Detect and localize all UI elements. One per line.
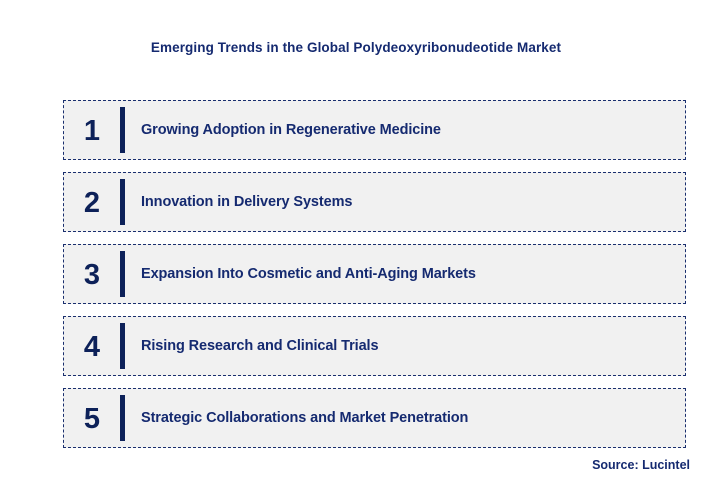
trend-rank-number: 4 [64, 331, 120, 362]
source-attribution: Source: Lucintel [592, 458, 690, 472]
trend-label: Strategic Collaborations and Market Pene… [141, 410, 685, 426]
trend-rank-number: 1 [64, 115, 120, 146]
page-title: Emerging Trends in the Global Polydeoxyr… [0, 40, 712, 55]
vertical-divider-bar [120, 395, 125, 441]
trends-infographic: Emerging Trends in the Global Polydeoxyr… [0, 0, 712, 501]
vertical-divider-bar [120, 107, 125, 153]
trend-list: 1 Growing Adoption in Regenerative Medic… [63, 100, 686, 448]
list-item[interactable]: 1 Growing Adoption in Regenerative Medic… [63, 100, 686, 160]
list-item[interactable]: 4 Rising Research and Clinical Trials [63, 316, 686, 376]
list-item[interactable]: 3 Expansion Into Cosmetic and Anti-Aging… [63, 244, 686, 304]
trend-label: Expansion Into Cosmetic and Anti-Aging M… [141, 266, 685, 282]
list-item[interactable]: 5 Strategic Collaborations and Market Pe… [63, 388, 686, 448]
trend-rank-number: 3 [64, 259, 120, 290]
vertical-divider-bar [120, 179, 125, 225]
trend-label: Rising Research and Clinical Trials [141, 338, 685, 354]
trend-rank-number: 5 [64, 403, 120, 434]
vertical-divider-bar [120, 323, 125, 369]
trend-rank-number: 2 [64, 187, 120, 218]
trend-label: Innovation in Delivery Systems [141, 194, 685, 210]
vertical-divider-bar [120, 251, 125, 297]
trend-label: Growing Adoption in Regenerative Medicin… [141, 122, 685, 138]
list-item[interactable]: 2 Innovation in Delivery Systems [63, 172, 686, 232]
